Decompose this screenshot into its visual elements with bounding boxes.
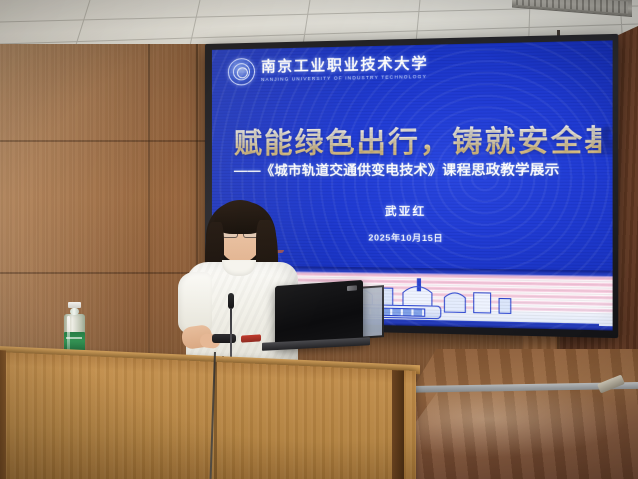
podium-left-edge <box>0 350 6 479</box>
desk-item-red <box>241 334 261 342</box>
university-name-en: NANJING UNIVERSITY OF INDUSTRY TECHNOLOG… <box>261 75 428 83</box>
laptop-logo-icon <box>347 285 357 291</box>
podium-front <box>0 352 416 479</box>
bottle-cap <box>68 302 81 308</box>
university-name-cn: 南京工业职业技术大学 <box>261 57 428 75</box>
slide-title: 赋能绿色出行，铸就安全基石 <box>234 118 601 162</box>
blouse-sleeve <box>178 272 212 334</box>
slide-header: 南京工业职业技术大学 NANJING UNIVERSITY OF INDUSTR… <box>228 54 429 86</box>
bottle-neck <box>70 308 79 315</box>
wall-seam <box>148 44 150 384</box>
microphone-gooseneck <box>230 308 232 363</box>
podium-right-edge <box>392 370 404 479</box>
lecture-hall-photo: 南京工业职业技术大学 NANJING UNIVERSITY OF INDUSTR… <box>0 0 638 479</box>
slide-subtitle: ——《城市轨道交通供变电技术》课程思政教学展示 <box>234 158 609 179</box>
microphone-head-icon <box>228 293 234 309</box>
university-emblem-icon <box>228 58 255 86</box>
microphone[interactable] <box>228 293 234 363</box>
university-name-block: 南京工业职业技术大学 NANJING UNIVERSITY OF INDUSTR… <box>261 57 428 82</box>
